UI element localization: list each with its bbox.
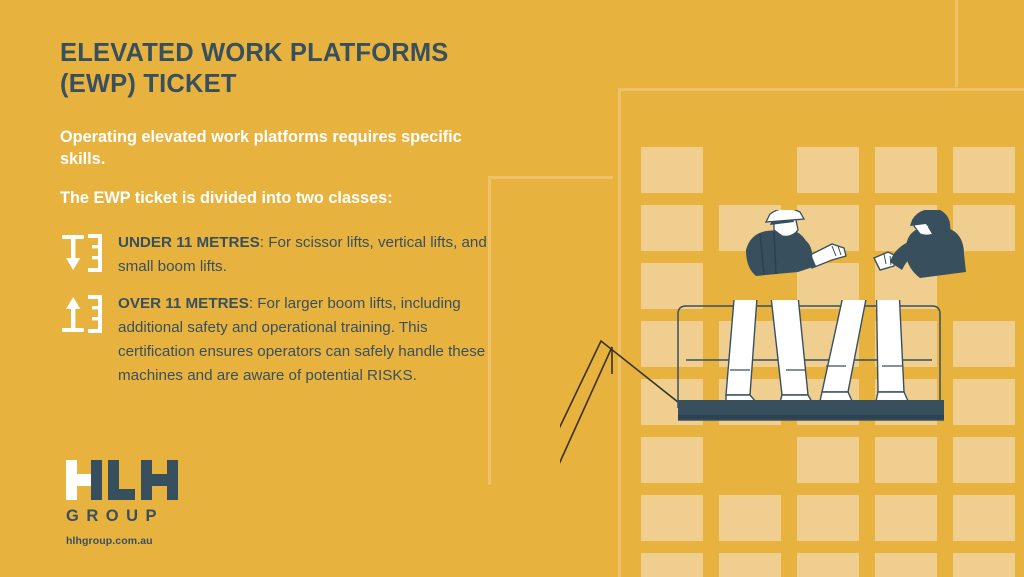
list-item: OVER 11 METRES: For larger boom lifts, i… [60, 292, 490, 388]
hlh-logo-url[interactable]: hlhgroup.com.au [66, 535, 178, 547]
class-label: UNDER 11 METRES [118, 234, 260, 251]
text-column: ELEVATED WORK PLATFORMS (EWP) TICKET Ope… [60, 38, 490, 401]
infographic-canvas: ELEVATED WORK PLATFORMS (EWP) TICKET Ope… [0, 0, 1024, 577]
class-label: OVER 11 METRES [118, 295, 249, 312]
list-item-text: OVER 11 METRES: For larger boom lifts, i… [118, 292, 490, 388]
class-separator: : [249, 295, 257, 312]
building-window [641, 147, 703, 193]
hlh-logo-wordmark: GROUP [66, 507, 178, 526]
worker-right-upper-body [874, 210, 966, 278]
workers-on-elevated-work-platform [560, 300, 1024, 577]
class-separator: : [260, 234, 268, 251]
ewp-class-list: UNDER 11 METRES: For scissor lifts, vert… [60, 231, 490, 388]
page-title-line-2: (EWP) TICKET [60, 70, 237, 98]
list-item-text: UNDER 11 METRES: For scissor lifts, vert… [118, 231, 490, 279]
hlh-group-logo[interactable]: GROUP hlhgroup.com.au [66, 458, 178, 547]
building-window [797, 147, 859, 193]
intro-lede: Operating elevated work platforms requir… [60, 126, 490, 170]
hlh-logo-mark [66, 458, 178, 502]
worker-left-upper-body [746, 210, 846, 276]
list-item: UNDER 11 METRES: For scissor lifts, vert… [60, 231, 490, 279]
building-window [875, 147, 937, 193]
workers-upper-bodies [560, 210, 1024, 340]
building-window [719, 147, 781, 193]
arrow-up-ruler-icon [60, 293, 104, 335]
intro-subhead: The EWP ticket is divided into two class… [60, 187, 490, 209]
arrow-down-ruler-icon [60, 232, 104, 274]
ewp-platform-deck [678, 400, 944, 420]
ewp-boom-arm [560, 341, 688, 577]
decorative-corner-line-top-right [955, 0, 1018, 87]
page-title: ELEVATED WORK PLATFORMS (EWP) TICKET [60, 38, 490, 100]
page-title-line-1: ELEVATED WORK PLATFORMS [60, 39, 449, 67]
building-window [953, 147, 1015, 193]
